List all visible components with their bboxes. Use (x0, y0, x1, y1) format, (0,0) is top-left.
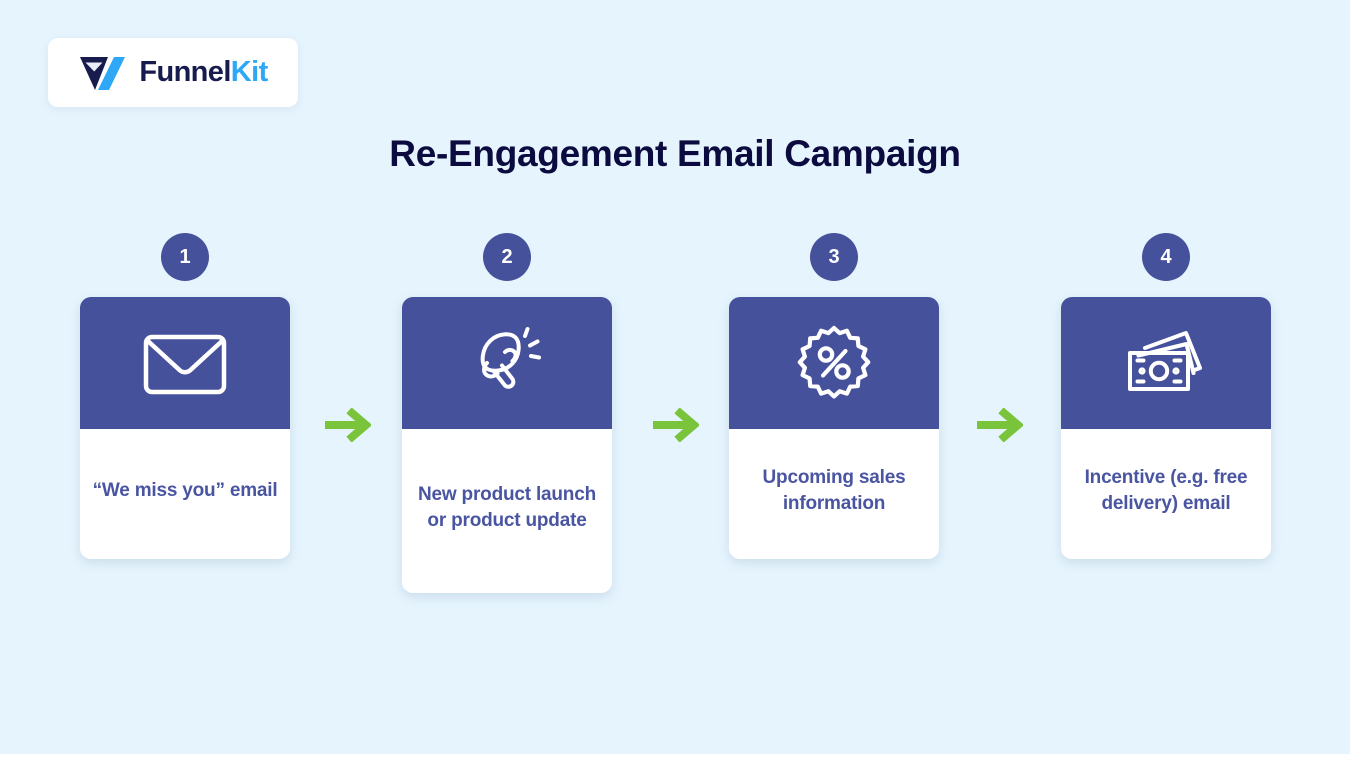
slide-canvas: FunnelKit Re-Engagement Email Campaign 1… (0, 0, 1350, 754)
step-card-header-1 (80, 297, 290, 429)
step-card-body-2: New product launch or product update (402, 429, 612, 593)
envelope-icon (142, 331, 228, 395)
step-card-2[interactable]: New product launch or product update (402, 297, 612, 593)
brand-wordmark-funnel: Funnel (139, 56, 230, 88)
arrow-right-icon (325, 408, 371, 442)
step-card-3[interactable]: Upcoming sales information (729, 297, 939, 559)
page-title: Re-Engagement Email Campaign (0, 133, 1350, 175)
flow-arrow-2 (653, 408, 699, 442)
step-card-body-4: Incentive (e.g. free delivery) email (1061, 429, 1271, 559)
campaign-flow: 1 “We miss you” email (0, 233, 1350, 573)
step-number-badge-4: 4 (1142, 233, 1190, 281)
funnelkit-v-logo-icon (78, 54, 130, 92)
step-number-badge-2: 2 (483, 233, 531, 281)
step-card-header-4 (1061, 297, 1271, 429)
step-card-4[interactable]: Incentive (e.g. free delivery) email (1061, 297, 1271, 559)
step-card-body-1: “We miss you” email (80, 429, 290, 559)
flow-arrow-1 (325, 408, 371, 442)
step-card-body-3: Upcoming sales information (729, 429, 939, 559)
brand-logo: FunnelKit (48, 38, 298, 107)
step-label-1: “We miss you” email (93, 478, 278, 504)
step-card-1[interactable]: “We miss you” email (80, 297, 290, 559)
discount-percent-badge-icon (795, 324, 873, 402)
flow-arrow-3 (977, 408, 1023, 442)
step-number-badge-1: 1 (161, 233, 209, 281)
brand-wordmark: FunnelKit (139, 56, 267, 89)
megaphone-icon (467, 323, 547, 403)
step-card-header-3 (729, 297, 939, 429)
brand-wordmark-kit: Kit (231, 56, 268, 88)
step-label-2: New product launch or product update (414, 482, 600, 533)
step-number-badge-3: 3 (810, 233, 858, 281)
banknotes-cash-icon (1124, 327, 1208, 399)
arrow-right-icon (977, 408, 1023, 442)
arrow-right-icon (653, 408, 699, 442)
step-card-header-2 (402, 297, 612, 429)
step-label-3: Upcoming sales information (741, 465, 927, 516)
step-label-4: Incentive (e.g. free delivery) email (1073, 465, 1259, 516)
